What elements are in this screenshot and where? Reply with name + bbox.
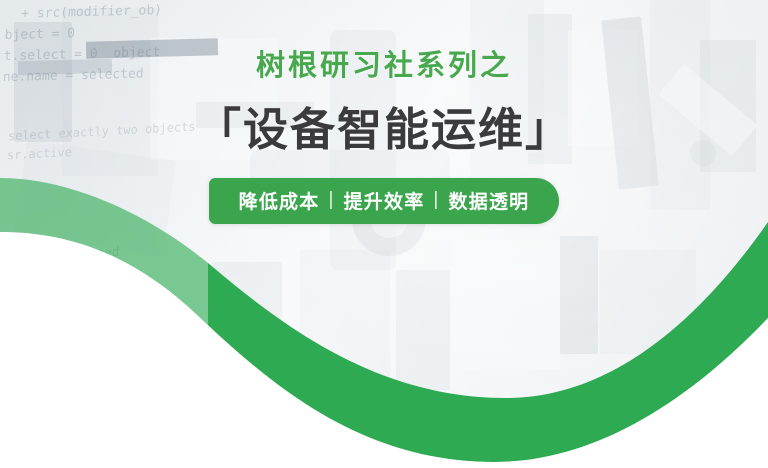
poster-headline: 「设备智能运维」	[0, 107, 768, 152]
benefit-item-3: 数据透明	[449, 187, 530, 214]
benefit-separator: |	[433, 189, 439, 211]
benefit-separator: |	[328, 189, 334, 211]
benefits-pill: 降低成本 | 提升效率 | 数据透明	[209, 178, 560, 224]
poster-canvas: + src(modifier_ob) bject = 0 t.select = …	[0, 0, 768, 468]
benefit-item-2: 提升效率	[344, 187, 425, 214]
poster-eyebrow: 树根研习社系列之	[0, 52, 768, 81]
poster-text-stack: 树根研习社系列之 「设备智能运维」 降低成本 | 提升效率 | 数据透明	[0, 52, 768, 224]
benefit-item-1: 降低成本	[239, 187, 320, 214]
benefits-row: 降低成本 | 提升效率 | 数据透明	[0, 178, 768, 224]
